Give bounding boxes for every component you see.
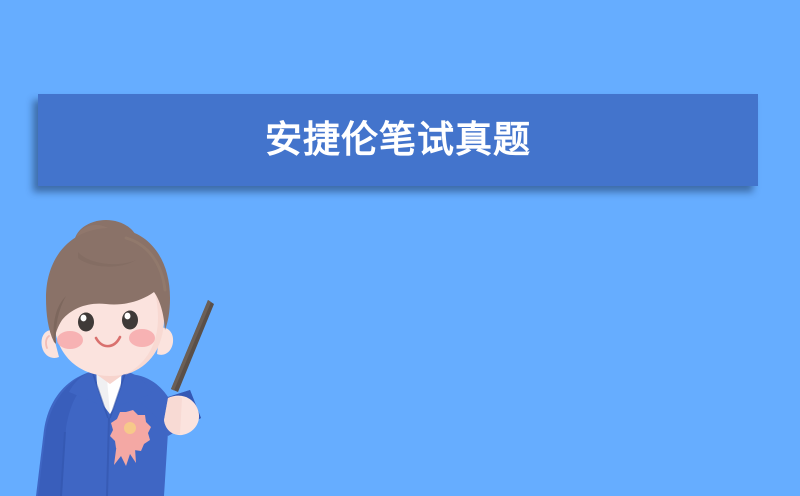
right-eye (122, 311, 138, 330)
teacher-illustration (18, 222, 258, 496)
poster-canvas: 安捷伦笔试真题 (0, 0, 800, 496)
pointer-stick-icon (171, 300, 214, 392)
page-title: 安捷伦笔试真题 (265, 121, 531, 158)
title-banner: 安捷伦笔试真题 (38, 94, 758, 186)
left-blush (57, 331, 83, 349)
left-eye (78, 313, 94, 332)
right-blush (129, 329, 155, 347)
